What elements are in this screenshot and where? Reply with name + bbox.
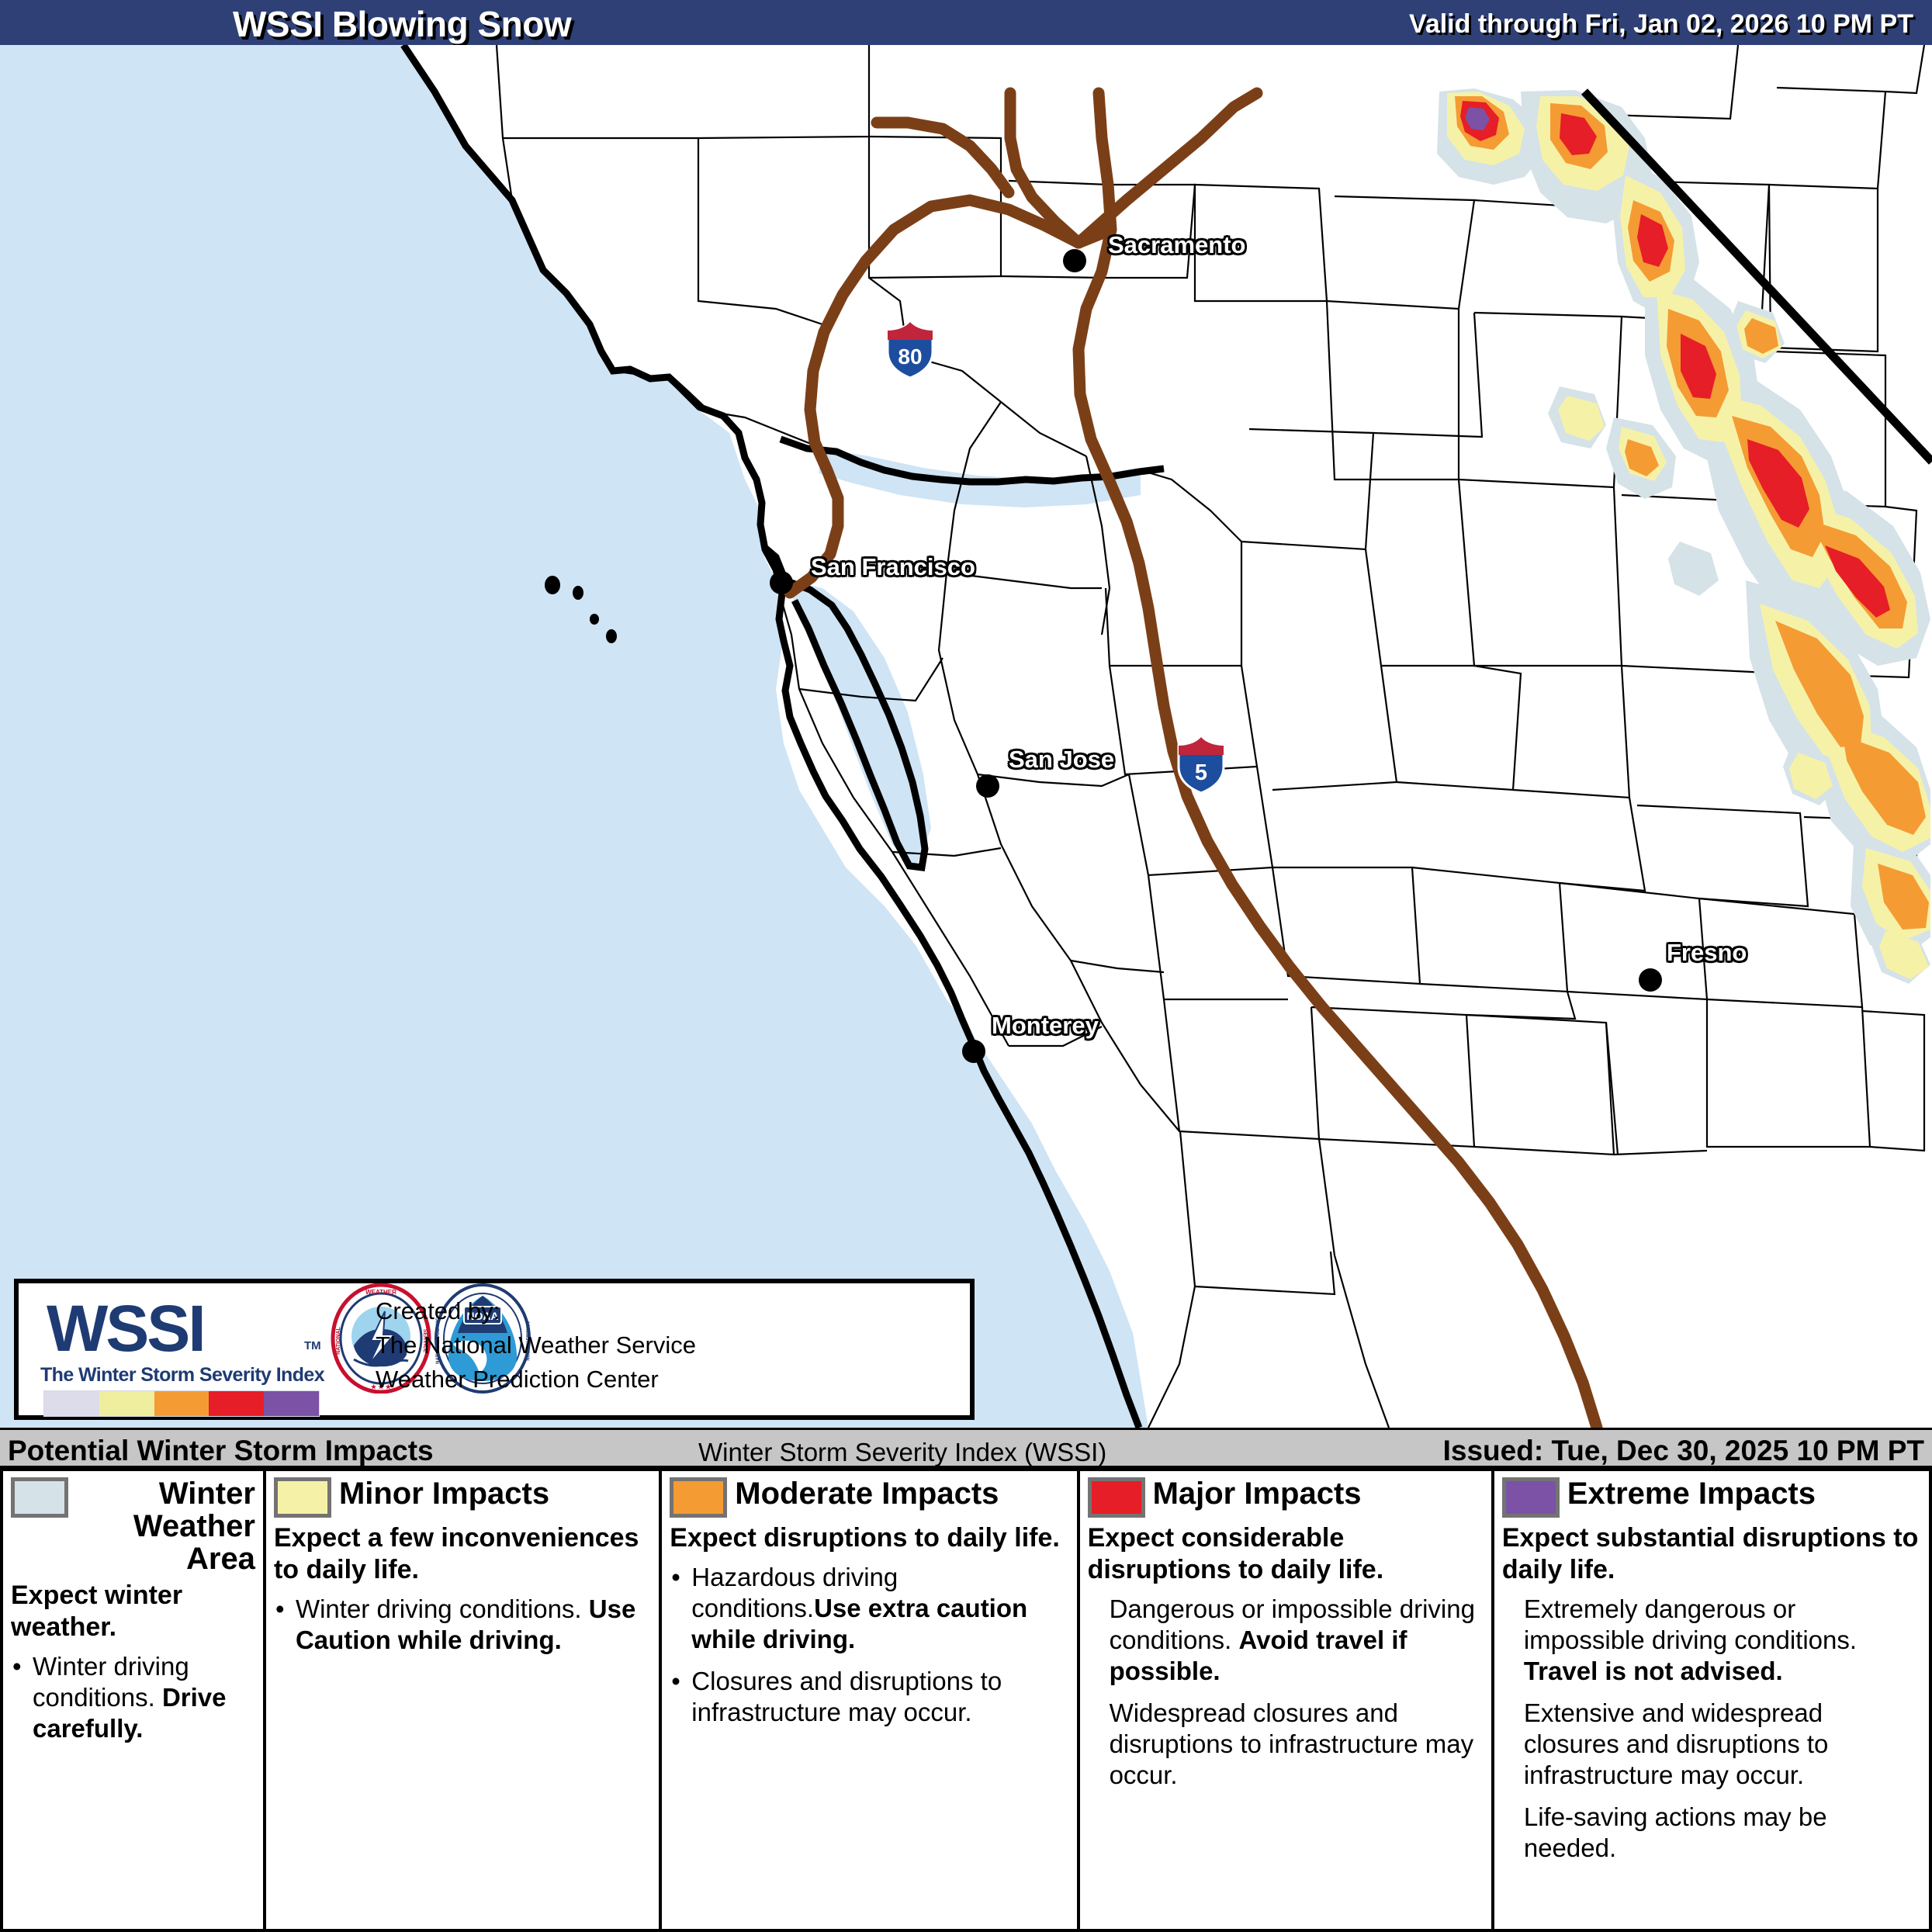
ramp-swatch-0 bbox=[44, 1391, 99, 1416]
ramp-swatch-1 bbox=[99, 1391, 154, 1416]
legend-header-moderate-impacts: Moderate Impacts bbox=[670, 1477, 1068, 1518]
city-label-fresno: Fresno bbox=[1667, 939, 1747, 967]
city-dot-san-jose bbox=[976, 774, 999, 798]
map-graphic bbox=[0, 45, 1932, 1428]
bullet-dot-icon: • bbox=[12, 1651, 22, 1682]
interstate-80-number: 80 bbox=[898, 345, 922, 369]
legend-column-minor-impacts: Minor ImpactsExpect a few inconveniences… bbox=[266, 1471, 662, 1929]
legend-bullet-moderate-impacts-0: •Hazardous driving conditions.Use extra … bbox=[670, 1562, 1068, 1655]
legend-bullet-major-impacts-1: Widespread closures and disruptions to i… bbox=[1088, 1698, 1484, 1791]
legend-header-minor-impacts: Minor Impacts bbox=[274, 1477, 651, 1518]
city-dot-san-francisco bbox=[770, 571, 793, 594]
legend-header-extreme-impacts: Extreme Impacts bbox=[1502, 1477, 1921, 1518]
created-by-block: Created by: The National Weather Service… bbox=[376, 1294, 696, 1397]
legend-bullet-extreme-impacts-2: Life-saving actions may be needed. bbox=[1502, 1802, 1921, 1864]
svg-text:NATIONAL: NATIONAL bbox=[336, 1326, 341, 1354]
wssi-acronym: WSSI bbox=[47, 1291, 204, 1366]
interstate-80-shield: 80 bbox=[885, 320, 936, 379]
legend-summary-winter-weather-area: Expect winter weather. bbox=[11, 1580, 255, 1643]
legend-bullets-extreme-impacts: Extremely dangerous or impossible drivin… bbox=[1502, 1594, 1921, 1864]
ramp-swatch-4 bbox=[264, 1391, 319, 1416]
interstate-5-shield: 5 bbox=[1175, 736, 1227, 795]
bullet-dot-icon: • bbox=[671, 1666, 680, 1697]
weather-map[interactable]: Sacramento San Francisco San Jose Fresno… bbox=[0, 45, 1932, 1428]
city-label-monterey: Monterey bbox=[992, 1012, 1099, 1040]
legend-name-extreme-impacts: Extreme Impacts bbox=[1567, 1477, 1816, 1510]
created-by-line-3: Weather Prediction Center bbox=[376, 1362, 696, 1397]
legend-swatch-extreme-impacts bbox=[1502, 1477, 1560, 1518]
wssi-color-ramp bbox=[43, 1390, 320, 1417]
legend-bullets-moderate-impacts: •Hazardous driving conditions.Use extra … bbox=[670, 1562, 1068, 1728]
legend-swatch-winter-weather-area bbox=[11, 1477, 68, 1518]
legend-column-extreme-impacts: Extreme ImpactsExpect substantial disrup… bbox=[1494, 1471, 1929, 1929]
legend-bullet-minor-impacts-0: •Winter driving conditions. Use Caution … bbox=[274, 1594, 651, 1656]
trademark-mark: TM bbox=[304, 1339, 321, 1352]
interstate-5-number: 5 bbox=[1195, 760, 1207, 785]
city-dot-fresno bbox=[1639, 968, 1662, 992]
valid-through-text: Valid through Fri, Jan 02, 2026 10 PM PT bbox=[1409, 9, 1913, 40]
legend-name-minor-impacts: Minor Impacts bbox=[339, 1477, 549, 1510]
bullet-dot-icon: • bbox=[275, 1594, 285, 1625]
legend-summary-major-impacts: Expect considerable disruptions to daily… bbox=[1088, 1522, 1484, 1586]
status-middle-label: Winter Storm Severity Index (WSSI) bbox=[698, 1438, 1106, 1467]
legend-swatch-major-impacts bbox=[1088, 1477, 1145, 1518]
legend-summary-extreme-impacts: Expect substantial disruptions to daily … bbox=[1502, 1522, 1921, 1586]
legend-name-major-impacts: Major Impacts bbox=[1153, 1477, 1362, 1510]
legend-header-major-impacts: Major Impacts bbox=[1088, 1477, 1484, 1518]
ramp-swatch-3 bbox=[209, 1391, 264, 1416]
status-issued-label: Issued: Tue, Dec 30, 2025 10 PM PT bbox=[1443, 1435, 1924, 1467]
impact-legend: Winter Weather AreaExpect winter weather… bbox=[0, 1468, 1932, 1932]
legend-bullet-moderate-impacts-1: •Closures and disruptions to infrastruct… bbox=[670, 1666, 1068, 1728]
header-bar: WSSI Blowing Snow Valid through Fri, Jan… bbox=[0, 0, 1932, 45]
created-by-line-1: Created by: bbox=[376, 1294, 696, 1328]
city-label-san-jose: San Jose bbox=[1009, 746, 1114, 774]
wssi-tagline: The Winter Storm Severity Index bbox=[40, 1364, 324, 1387]
status-bar: Potential Winter Storm Impacts Winter St… bbox=[0, 1428, 1932, 1468]
legend-column-moderate-impacts: Moderate ImpactsExpect disruptions to da… bbox=[662, 1471, 1079, 1929]
status-left-label: Potential Winter Storm Impacts bbox=[8, 1435, 434, 1467]
legend-column-winter-weather-area: Winter Weather AreaExpect winter weather… bbox=[3, 1471, 266, 1929]
legend-name-moderate-impacts: Moderate Impacts bbox=[735, 1477, 999, 1510]
created-by-line-2: The National Weather Service bbox=[376, 1328, 696, 1362]
legend-bullet-major-impacts-0: Dangerous or impossible driving conditio… bbox=[1088, 1594, 1484, 1687]
legend-swatch-minor-impacts bbox=[274, 1477, 331, 1518]
legend-bullet-extreme-impacts-0: Extremely dangerous or impossible drivin… bbox=[1502, 1594, 1921, 1687]
city-dot-monterey bbox=[962, 1040, 985, 1063]
legend-bullet-winter-weather-area-0: •Winter driving conditions. Drive carefu… bbox=[11, 1651, 255, 1744]
legend-name-winter-weather-area: Winter Weather Area bbox=[76, 1477, 255, 1575]
ramp-swatch-2 bbox=[154, 1391, 209, 1416]
wssi-logo-box: WSSI TM The Winter Storm Severity Index … bbox=[14, 1279, 975, 1420]
page-title: WSSI Blowing Snow bbox=[233, 3, 571, 45]
city-label-san-francisco: San Francisco bbox=[811, 553, 975, 581]
legend-bullets-winter-weather-area: •Winter driving conditions. Drive carefu… bbox=[11, 1651, 255, 1744]
legend-bullets-major-impacts: Dangerous or impossible driving conditio… bbox=[1088, 1594, 1484, 1791]
legend-bullet-extreme-impacts-1: Extensive and widespread closures and di… bbox=[1502, 1698, 1921, 1791]
legend-column-major-impacts: Major ImpactsExpect considerable disrupt… bbox=[1080, 1471, 1494, 1929]
city-dot-sacramento bbox=[1063, 249, 1086, 272]
legend-bullets-minor-impacts: •Winter driving conditions. Use Caution … bbox=[274, 1594, 651, 1656]
legend-swatch-moderate-impacts bbox=[670, 1477, 727, 1518]
legend-summary-minor-impacts: Expect a few inconveniences to daily lif… bbox=[274, 1522, 651, 1586]
legend-summary-moderate-impacts: Expect disruptions to daily life. bbox=[670, 1522, 1068, 1554]
city-label-sacramento: Sacramento bbox=[1108, 231, 1245, 259]
legend-header-winter-weather-area: Winter Weather Area bbox=[11, 1477, 255, 1575]
bullet-dot-icon: • bbox=[671, 1562, 680, 1593]
